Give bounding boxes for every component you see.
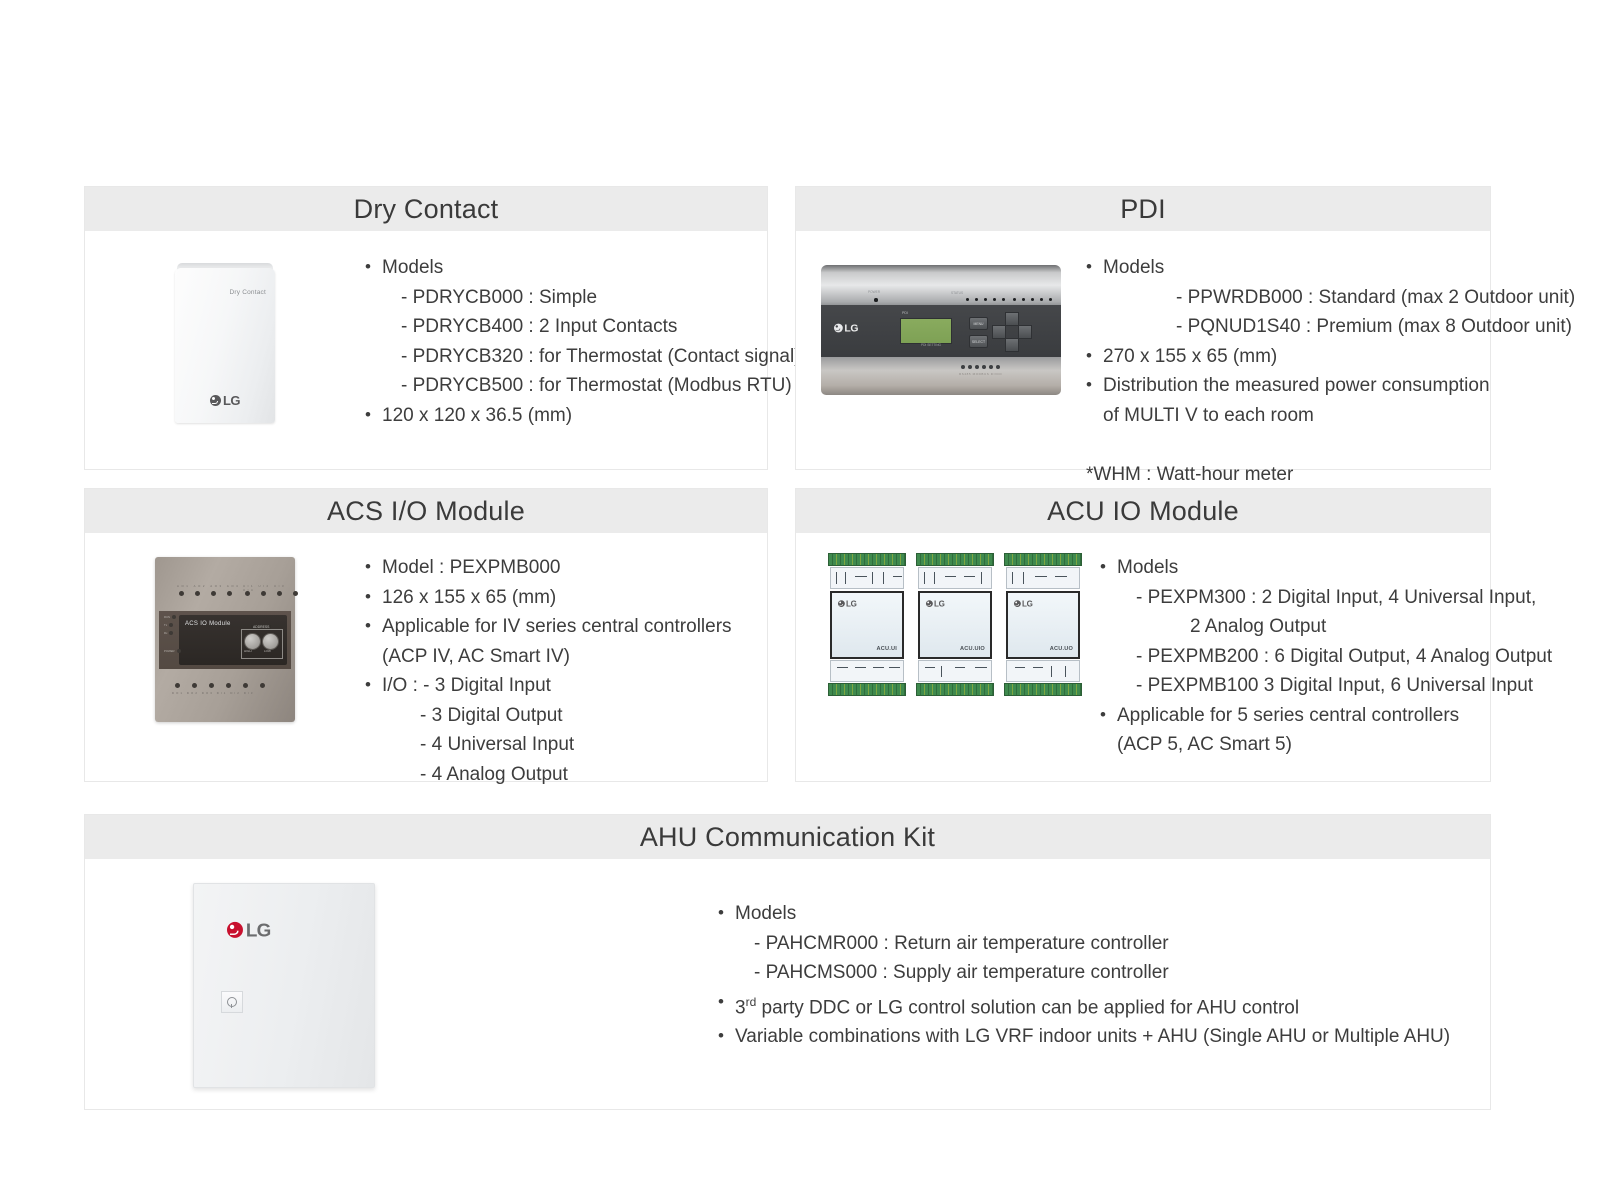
device-acu-ui: LG ACU.UI [828,553,906,696]
led-row-top-right [245,591,298,596]
spec-item: Models [1086,253,1575,283]
spec-item: - 4 Analog Output [365,760,767,790]
lg-logo: LG [175,394,275,407]
lg-wordmark: LG [246,920,271,939]
device-acu-uo: LG ACU.UO [1004,553,1082,696]
terminal-strip-bottom [1004,683,1082,696]
side-led-group: RUN Tx Rx [164,615,176,639]
spec-item: 126 x 155 x 65 (mm) [365,583,767,613]
spec-list: Models- PEXPM300 : 2 Digital Input, 4 Un… [1100,553,1552,760]
arrow-right-icon[interactable] [1018,325,1032,339]
spec-item: of MULTI V to each room [1086,401,1575,431]
device-face: LG ACU.UI [830,591,904,659]
panel-title: PDI [1120,196,1166,223]
panel-header-pdi: PDI [796,187,1490,231]
arrow-left-icon[interactable] [992,325,1006,339]
spec-item: Models [365,253,801,283]
terminal-strip-bottom [828,683,906,696]
panel-title: AHU Communication Kit [640,824,935,851]
spec-item: - PPWRDB000 : Standard (max 2 Outdoor un… [1086,283,1575,313]
spec-item: I/O : - 3 Digital Input [365,671,767,701]
spec-item: - PEXPMB200 : 6 Digital Output, 4 Analog… [1100,642,1552,672]
spec-item: Models [1100,553,1552,583]
device-pdi: POWER STATUS LG PDI [821,265,1061,395]
led-group-a [966,298,1005,301]
wiring-diagram-bottom [1006,660,1080,682]
spec-item: 270 x 155 x 65 (mm) [1086,342,1575,372]
spec-item: - PDRYCB500 : for Thermostat (Modbus RTU… [365,371,801,401]
spec-item [1086,430,1575,460]
spec-text-dry-contact: Models- PDRYCB000 : Simple- PDRYCB400 : … [365,249,801,430]
led-group-b [1013,298,1052,301]
address-knob-low-label: LOW [264,649,271,653]
lg-wordmark: LG [934,600,945,608]
wiring-diagram-top [918,567,992,589]
spec-item: - 4 Universal Input [365,730,767,760]
product-image-acu-io-module: LG ACU.UI [796,549,1100,696]
panel-ahu-communication-kit: AHU Communication Kit LG [84,814,1491,1110]
spec-item: - 3 Digital Output [365,701,767,731]
panel-header-dry-contact: Dry Contact [85,187,767,231]
spec-list: Models- PAHCMR000 : Return air temperatu… [718,899,1490,1052]
device-face: LG ACU.UO [1006,591,1080,659]
lg-wordmark: LG [1022,600,1033,608]
panel-acs-io-module: ACS I/O Module AO1 AO2 AO3 AO4 UI1 UI2 U… [84,488,768,782]
lg-circle-icon [210,395,221,406]
spec-list: Models- PDRYCB000 : Simple- PDRYCB400 : … [365,253,801,430]
lg-wordmark: LG [844,323,858,333]
product-image-acs-io-module: AO1 AO2 AO3 AO4 UI1 UI2 UI3 UI4 ACS IO M… [85,549,365,722]
wiring-diagram-top [1006,567,1080,589]
terminal-strip-top [916,553,994,566]
spec-item: - PEXPM300 : 2 Digital Input, 4 Universa… [1100,583,1552,613]
menu-button[interactable]: MENU [969,317,988,330]
lg-circle-icon [834,324,843,333]
panel-pdi: PDI POWER STATUS [795,186,1491,470]
panel-header-acu-io-module: ACU IO Module [796,489,1490,533]
cabinet-door [193,883,375,1088]
device-ahu-cabinet: LG [193,883,375,1088]
arrow-down-icon[interactable] [1005,338,1019,352]
spec-item: - PDRYCB000 : Simple [365,283,801,313]
panel-title: Dry Contact [354,196,499,223]
device-nameplate: Dry Contact [229,289,266,296]
spec-item: Distribution the measured power consumpt… [1086,371,1575,401]
panel-title: ACS I/O Module [327,498,525,525]
power-label: POWER [868,290,880,294]
wiring-diagram-bottom [918,660,992,682]
lg-logo: LG [227,919,271,945]
side-led-label-tx: Tx [164,623,167,627]
address-knob-low[interactable] [262,633,279,650]
power-label: POWER [164,649,175,653]
lg-logo: LG [834,322,858,336]
spec-text-pdi: Models- PPWRDB000 : Standard (max 2 Outd… [1086,249,1575,489]
device-nameplate: ACU.UO [1050,646,1073,652]
product-image-dry-contact: Dry Contact LG [85,249,365,423]
address-knob-high[interactable] [244,633,261,650]
address-knob-high-label: HIGH [244,649,252,653]
spec-text-ahu-communication-kit: Models- PAHCMR000 : Return air temperatu… [718,883,1490,1052]
power-led-group: POWER [164,649,181,653]
panel-title: ACU IO Module [1047,498,1239,525]
spec-item: (ACP 5, AC Smart 5) [1100,730,1552,760]
lcd-display [900,318,952,344]
led-label-bottom: DO1 DO2 DO3 DI1 DI2 DI3 [172,691,255,695]
terminal-strip-top [1004,553,1082,566]
device-nameplate: ACU.UIO [960,646,985,652]
status-label: STATUS [951,291,963,295]
spec-item: - PQNUD1S40 : Premium (max 8 Outdoor uni… [1086,312,1575,342]
lg-wordmark: LG [846,600,857,608]
select-button[interactable]: SELECT [969,335,988,348]
product-image-pdi: POWER STATUS LG PDI [796,249,1086,395]
spec-list: Models- PPWRDB000 : Standard (max 2 Outd… [1086,253,1575,489]
product-image-ahu-communication-kit: LG [85,883,718,1088]
spec-item: (ACP IV, AC Smart IV) [365,642,767,672]
bottom-led-group [961,365,1000,369]
terminal-strip-bottom [916,683,994,696]
panel-header-acs-io-module: ACS I/O Module [85,489,767,533]
spec-item: Variable combinations with LG VRF indoor… [718,1022,1490,1052]
device-acu-uio: LG ACU.UIO [916,553,994,696]
device-face: LG ACU.UIO [918,591,992,659]
spec-list: Model : PEXPMB000126 x 155 x 65 (mm)Appl… [365,553,767,789]
side-led-label-rx: Rx [164,631,167,635]
device-acs-io-module: AO1 AO2 AO3 AO4 UI1 UI2 UI3 UI4 ACS IO M… [155,557,295,722]
spec-text-acs-io-module: Model : PEXPMB000126 x 155 x 65 (mm)Appl… [365,549,767,789]
device-nameplate: ACS IO Module [185,621,231,627]
spec-item: 2 Analog Output [1100,612,1552,642]
spec-item: *WHM : Watt-hour meter [1086,460,1575,490]
spec-item: - PDRYCB320 : for Thermostat (Contact si… [365,342,801,372]
lg-logo: LG [926,599,945,610]
lg-circle-icon [1014,600,1021,607]
wiring-diagram-top [830,567,904,589]
navigation-pad[interactable] [992,312,1030,350]
panel-acu-io-module: ACU IO Module [795,488,1491,782]
spec-item: Applicable for IV series central control… [365,612,767,642]
led-label-top-left: AO1 AO2 AO3 AO4 [177,584,240,588]
device-nameplate: ACU.UI [877,646,897,652]
spec-item: - PAHCMS000 : Supply air temperature con… [718,958,1490,988]
lock-icon [227,997,237,1007]
led-row-top-left [179,591,232,596]
lg-wordmark: LG [223,394,240,407]
spec-item: Applicable for 5 series central controll… [1100,701,1552,731]
spec-text-acu-io-module: Models- PEXPM300 : 2 Digital Input, 4 Un… [1100,549,1552,760]
acu-module-group: LG ACU.UI [828,553,1082,696]
spec-item: Model : PEXPMB000 [365,553,767,583]
panel-header-ahu-communication-kit: AHU Communication Kit [85,815,1490,859]
lg-circle-icon [838,600,845,607]
address-label: ADDRESS [251,625,271,629]
spec-item: - PDRYCB400 : 2 Input Contacts [365,312,801,342]
device-bottom-shell [821,357,1061,395]
lg-circle-icon [926,600,933,607]
panel-dry-contact: Dry Contact Dry Contact LG Models- [84,186,768,470]
cabinet-latch[interactable] [221,991,243,1013]
spec-item: 3rd party DDC or LG control solution can… [718,988,1490,1023]
spec-item: - PEXPMB100 3 Digital Input, 6 Universal… [1100,671,1552,701]
bottom-port-label: RS485 MODBUS DI/DO [959,372,1002,376]
power-led-icon [874,298,878,302]
spec-item: - PAHCMR000 : Return air temperature con… [718,929,1490,959]
lcd-caption: PDI [902,311,908,315]
slide-canvas: Dry Contact Dry Contact LG Models- [0,0,1600,1200]
spec-item: 120 x 120 x 36.5 (mm) [365,401,801,431]
led-row-bottom [175,683,265,688]
lg-circle-icon [227,922,243,938]
lg-logo: LG [838,599,857,610]
terminal-strip-top [828,553,906,566]
lg-logo: LG [1014,599,1033,610]
arrow-up-icon[interactable] [1005,312,1019,326]
spec-item: Models [718,899,1490,929]
device-dry-contact: Dry Contact LG [175,263,275,423]
wiring-diagram-bottom [830,660,904,682]
lcd-subcaption: PDI SETTING [921,343,941,347]
side-led-label-run: RUN [164,615,170,619]
